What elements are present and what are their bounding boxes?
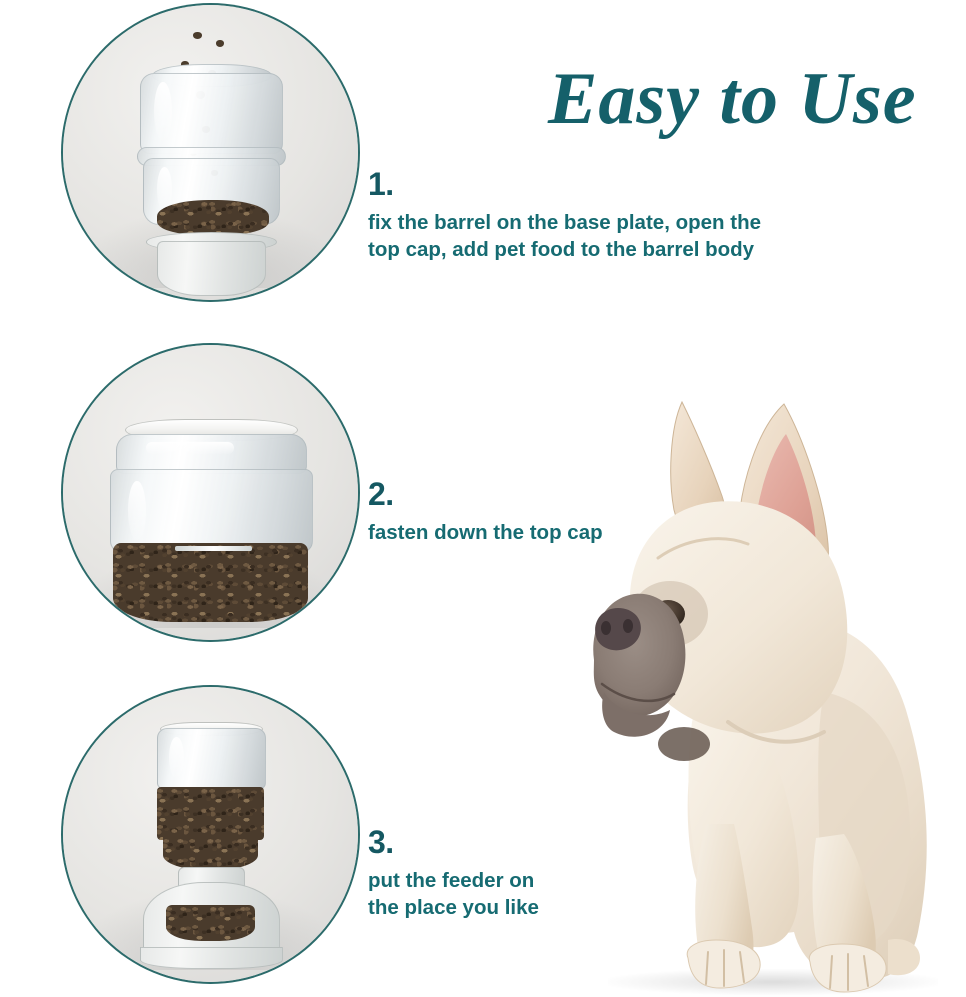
- barrel-body: [110, 469, 313, 554]
- dispensed-food: [166, 905, 255, 940]
- step-1: 1. fix the barrel on the base plate, ope…: [368, 168, 838, 264]
- falling-kibble-icon: [216, 40, 224, 47]
- dog-nostril: [601, 621, 611, 635]
- dispense-slot: [175, 546, 252, 552]
- french-bulldog-illustration: [588, 392, 966, 997]
- step-1-text: fix the barrel on the base plate, open t…: [368, 209, 838, 264]
- barrel-upper: [157, 728, 265, 789]
- kibble-cone: [163, 837, 257, 869]
- step-photo-1-image: [63, 5, 358, 300]
- base-stand: [157, 241, 265, 296]
- dog-chin: [658, 727, 710, 761]
- barrel-shoulder: [116, 434, 307, 474]
- step-1-number: 1.: [368, 168, 838, 200]
- step-photo-2-image: [63, 345, 358, 640]
- kibble-pile: [157, 200, 269, 235]
- step-3-text: put the feeder on the place you like: [368, 867, 608, 922]
- page-title: Easy to Use: [548, 62, 948, 136]
- step-photo-1: [63, 5, 358, 300]
- product-photo-dog: [588, 392, 966, 997]
- dog-nostril: [623, 619, 633, 633]
- barrel-upper: [140, 73, 284, 155]
- step-photo-3: [63, 687, 358, 982]
- step-3: 3. put the feeder on the place you like: [368, 826, 608, 922]
- dog-rear-paw: [888, 939, 920, 975]
- falling-kibble-icon: [193, 32, 202, 39]
- bowl-rim: [140, 947, 284, 970]
- step-3-number: 3.: [368, 826, 608, 858]
- kibble-column: [157, 787, 263, 840]
- kibble-fill: [113, 543, 308, 623]
- step-photo-2: [63, 345, 358, 640]
- infographic-page: Easy to Use: [0, 0, 966, 997]
- step-photo-3-image: [63, 687, 358, 982]
